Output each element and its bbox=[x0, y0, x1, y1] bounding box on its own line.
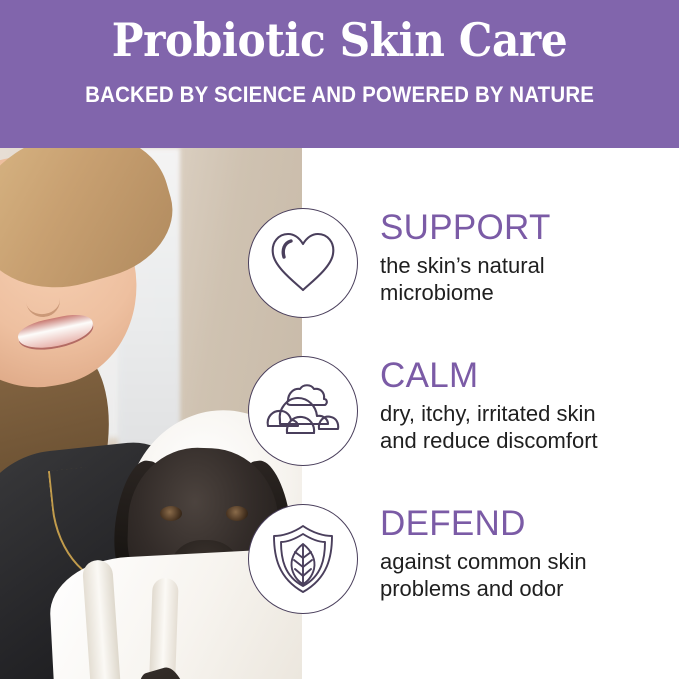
benefit-description-line: dry, itchy, irritated skin bbox=[380, 401, 679, 428]
benefit-description-line: and reduce discomfort bbox=[380, 428, 679, 455]
benefit-row-defend: DEFEND against common skin problems and … bbox=[0, 504, 679, 614]
page-title: Probiotic Skin Care bbox=[112, 16, 567, 64]
benefit-kicker-defend: DEFEND bbox=[380, 506, 679, 541]
benefit-description-line: problems and odor bbox=[380, 576, 679, 603]
benefit-description-line: microbiome bbox=[380, 280, 679, 307]
promotional-banner: Probiotic Skin Care BACKED BY SCIENCE AN… bbox=[0, 0, 679, 679]
page-subtitle: BACKED BY SCIENCE AND POWERED BY NATURE bbox=[85, 82, 594, 108]
benefit-kicker-support: SUPPORT bbox=[380, 210, 679, 245]
benefit-row-support: SUPPORT the skin’s natural microbiome bbox=[0, 208, 679, 318]
benefit-text-support: SUPPORT the skin’s natural microbiome bbox=[380, 208, 679, 307]
benefit-text-defend: DEFEND against common skin problems and … bbox=[380, 504, 679, 603]
benefit-row-calm: CALM dry, itchy, irritated skin and redu… bbox=[0, 356, 679, 466]
heart-icon bbox=[267, 230, 339, 296]
benefit-description-line: against common skin bbox=[380, 549, 679, 576]
benefit-icon-badge-support bbox=[248, 208, 358, 318]
benefit-description-line: the skin’s natural bbox=[380, 253, 679, 280]
benefit-text-calm: CALM dry, itchy, irritated skin and redu… bbox=[380, 356, 679, 455]
clouds-icon bbox=[264, 381, 342, 441]
benefit-icon-badge-calm bbox=[248, 356, 358, 466]
benefit-description-support: the skin’s natural microbiome bbox=[380, 253, 679, 307]
header-band: Probiotic Skin Care BACKED BY SCIENCE AN… bbox=[0, 0, 679, 148]
benefit-kicker-calm: CALM bbox=[380, 358, 679, 393]
shield-leaf-icon bbox=[268, 522, 338, 596]
benefit-icon-badge-defend bbox=[248, 504, 358, 614]
benefit-description-defend: against common skin problems and odor bbox=[380, 549, 679, 603]
benefit-description-calm: dry, itchy, irritated skin and reduce di… bbox=[380, 401, 679, 455]
